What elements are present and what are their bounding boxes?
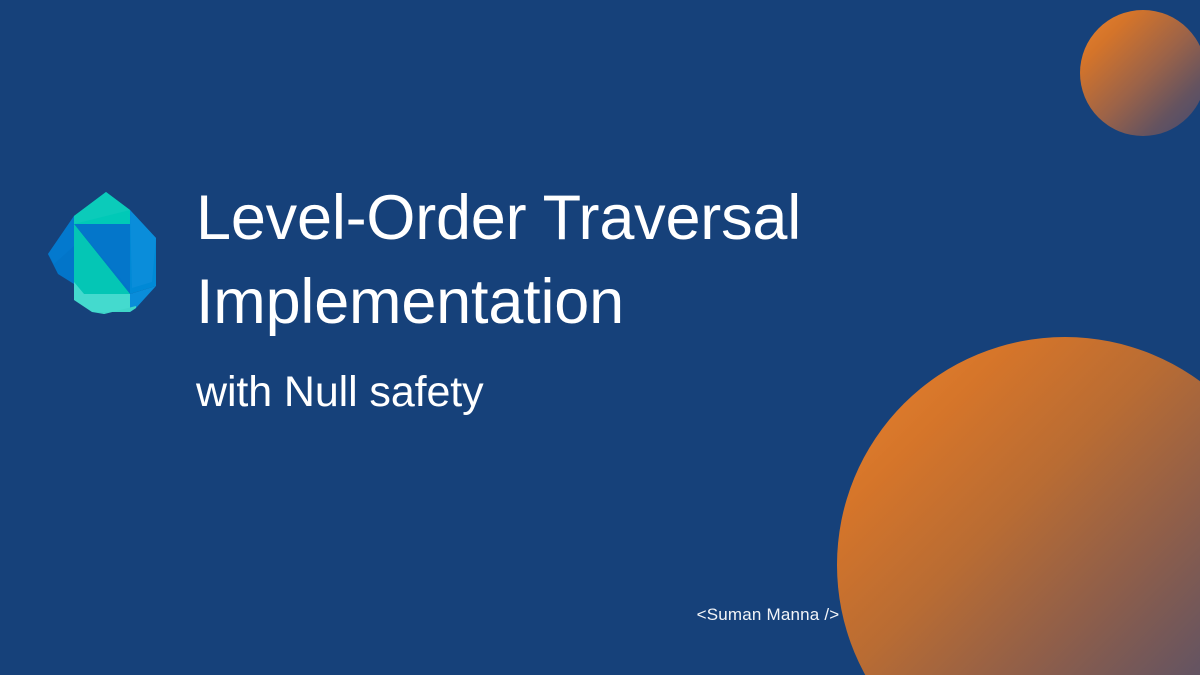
presentation-slide: Level-Order Traversal Implementation wit… (0, 0, 1200, 675)
dart-logo-icon (44, 186, 176, 322)
orange-gradient-circle-top-right-icon (1080, 10, 1200, 136)
page-title-line-1: Level-Order Traversal (196, 176, 1056, 260)
page-subtitle: with Null safety (196, 363, 1056, 421)
title-block: Level-Order Traversal Implementation wit… (196, 176, 1056, 421)
author-credit: <Suman Manna /> (0, 605, 1200, 625)
page-title-line-2: Implementation (196, 260, 1056, 344)
